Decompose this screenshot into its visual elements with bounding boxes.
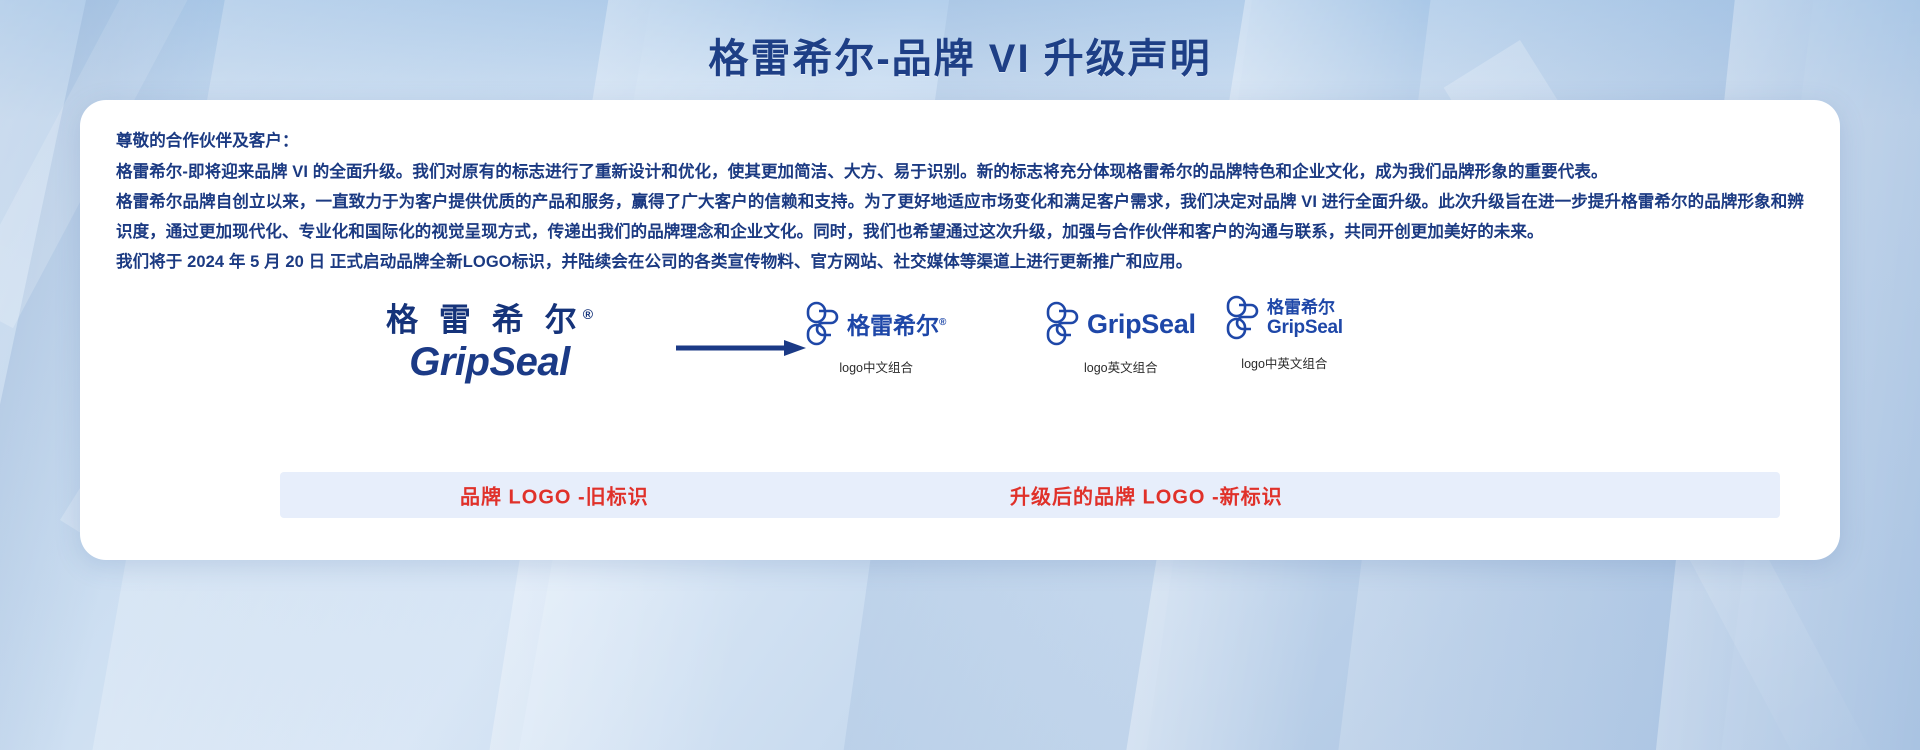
statement-greeting: 尊敬的合作伙伴及客户：: [116, 126, 1804, 156]
new-logo-bilingual-english: GripSeal: [1267, 317, 1343, 338]
new-logo-english: GripSeal logo英文组合: [1046, 301, 1196, 376]
logo-caption-bar: 品牌 LOGO -旧标识 升级后的品牌 LOGO -新标识: [280, 472, 1780, 518]
new-logo-chinese: 格雷希尔® logo中文组合: [806, 301, 946, 376]
statement-body: 尊敬的合作伙伴及客户： 格雷希尔-即将迎来品牌 VI 的全面升级。我们对原有的标…: [116, 126, 1804, 277]
logo-comparison-strip: 格 雷 希 尔® GripSeal: [116, 295, 1804, 415]
gripseal-monogram-icon: [806, 301, 840, 347]
page-title: 格雷希尔-品牌 VI 升级声明: [0, 26, 1920, 84]
new-logo-english-caption: logo英文组合: [1046, 357, 1196, 376]
statement-card: 尊敬的合作伙伴及客户： 格雷希尔-即将迎来品牌 VI 的全面升级。我们对原有的标…: [80, 100, 1840, 560]
statement-paragraph-3: 我们将于 2024 年 5 月 20 日 正式启动品牌全新LOGO标识，并陆续会…: [116, 247, 1804, 277]
gripseal-monogram-icon: [1046, 301, 1080, 347]
registered-trademark-icon: ®: [939, 317, 946, 328]
new-logo-chinese-text: 格雷希尔®: [847, 310, 946, 339]
new-logo-bilingual-caption: logo中英文组合: [1226, 353, 1343, 372]
new-logo-english-text: GripSeal: [1087, 309, 1196, 339]
statement-paragraph-1: 格雷希尔-即将迎来品牌 VI 的全面升级。我们对原有的标志进行了重新设计和优化，…: [116, 157, 1804, 187]
old-logo-english: GripSeal: [386, 339, 593, 385]
registered-trademark-icon: ®: [583, 306, 593, 322]
gripseal-monogram-icon: [1226, 293, 1260, 343]
old-logo-chinese: 格 雷 希 尔®: [386, 295, 593, 339]
statement-page: 格雷希尔-品牌 VI 升级声明 尊敬的合作伙伴及客户： 格雷希尔-即将迎来品牌 …: [0, 0, 1920, 750]
old-logo-chinese-text: 格 雷 希 尔: [386, 302, 583, 338]
old-logo: 格 雷 希 尔® GripSeal: [386, 295, 593, 385]
new-logo-caption: 升级后的品牌 LOGO -新标识: [1010, 481, 1283, 510]
new-logo-bilingual: 格雷希尔 GripSeal logo中英文组合: [1226, 293, 1343, 372]
new-logo-bilingual-chinese: 格雷希尔: [1267, 298, 1335, 317]
old-logo-caption: 品牌 LOGO -旧标识: [460, 481, 649, 510]
arrow-right-icon: [676, 339, 806, 357]
new-logo-chinese-label: 格雷希尔: [847, 312, 939, 338]
new-logo-chinese-caption: logo中文组合: [806, 357, 946, 376]
statement-paragraph-2: 格雷希尔品牌自创立以来，一直致力于为客户提供优质的产品和服务，赢得了广大客户的信…: [116, 187, 1804, 247]
